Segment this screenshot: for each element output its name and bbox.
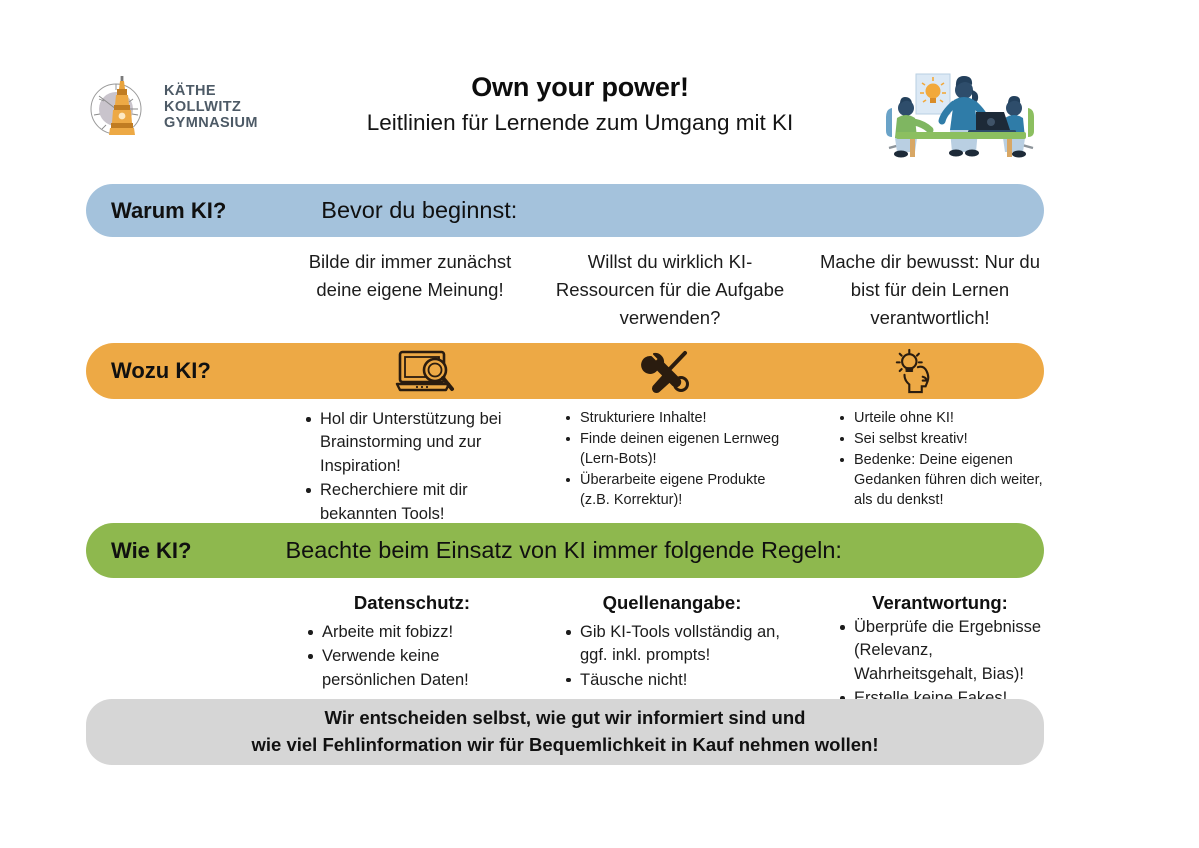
list-item: Arbeite mit fobizz!: [308, 621, 536, 644]
wozu-ki-column-3: Urteile ohne KI! Sei selbst kreativ! Bed…: [796, 408, 1058, 527]
warum-ki-columns: Bilde dir immer zunächst deine eigene Me…: [280, 248, 1060, 331]
wie-ki-columns: Datenschutz: Arbeite mit fobizz! Verwend…: [288, 592, 1060, 712]
section-label-warum-ki: Warum KI?: [86, 198, 226, 224]
column-title-verantwortung: Verantwortung:: [820, 592, 1060, 614]
wie-ki-bullets-2: Gib KI-Tools vollständig an, ggf. inkl. …: [546, 621, 798, 692]
wie-ki-column-datenschutz: Datenschutz: Arbeite mit fobizz! Verwend…: [288, 592, 536, 712]
section-label-wozu-ki: Wozu KI?: [86, 358, 211, 384]
logo-line-2: KOLLWITZ: [164, 99, 258, 115]
logo-line-3: GYMNASIUM: [164, 115, 258, 131]
title-block: Own your power! Leitlinien für Lernende …: [300, 72, 860, 136]
lighthouse-compass-logo-icon: [86, 71, 158, 143]
column-title-quellenangabe: Quellenangabe:: [546, 592, 798, 614]
section-banner-warum-ki: Warum KI? Bevor du beginnst:: [86, 184, 1044, 237]
header: KÄTHE KOLLWITZ GYMNASIUM Own your power!…: [0, 52, 1199, 167]
wozu-ki-icon-row: [211, 348, 1044, 394]
list-item: Überarbeite eigene Produkte (z.B. Korrek…: [566, 470, 796, 510]
list-item: Gib KI-Tools vollständig an, ggf. inkl. …: [566, 621, 798, 668]
infographic-page: KÄTHE KOLLWITZ GYMNASIUM Own your power!…: [0, 0, 1199, 848]
list-item: Sei selbst kreativ!: [840, 429, 1058, 449]
page-title: Own your power!: [300, 72, 860, 103]
list-item: Strukturiere Inhalte!: [566, 408, 796, 428]
section-banner-wie-ki: Wie KI? Beachte beim Einsatz von KI imme…: [86, 523, 1044, 578]
wie-ki-bullets-3: Überprüfe die Ergebnisse (Relevanz, Wahr…: [820, 616, 1060, 711]
list-item: Urteile ohne KI!: [840, 408, 1058, 428]
list-item: Überprüfe die Ergebnisse (Relevanz, Wahr…: [840, 616, 1060, 686]
wie-ki-column-verantwortung: Verantwortung: Überprüfe die Ergebnisse …: [798, 592, 1060, 712]
laptop-magnifier-icon: [381, 348, 473, 394]
wie-ki-column-quellenangabe: Quellenangabe: Gib KI-Tools vollständig …: [536, 592, 798, 712]
warum-ki-column-2: Willst du wirklich KI-Ressourcen für die…: [540, 248, 800, 331]
section-heading-wie-ki: Beachte beim Einsatz von KI immer folgen…: [285, 537, 841, 564]
page-subtitle: Leitlinien für Lernende zum Umgang mit K…: [300, 110, 860, 136]
head-lightbulb-icon: [870, 348, 962, 394]
list-item: Hol dir Unterstützung bei Brainstorming …: [306, 408, 534, 478]
list-item: Recherchiere mit dir bekannten Tools!: [306, 479, 534, 526]
logo-line-1: KÄTHE: [164, 83, 258, 99]
warum-ki-column-1: Bilde dir immer zunächst deine eigene Me…: [280, 248, 540, 331]
school-logo-wordmark: KÄTHE KOLLWITZ GYMNASIUM: [164, 83, 258, 132]
list-item: Verwende keine persönlichen Daten!: [308, 645, 536, 692]
list-item: Täusche nicht!: [566, 669, 798, 692]
column-title-datenschutz: Datenschutz:: [288, 592, 536, 614]
wozu-ki-bullets-2: Strukturiere Inhalte! Finde deinen eigen…: [546, 408, 796, 510]
wrench-screwdriver-icon: [623, 348, 715, 394]
footer-banner: Wir entscheiden selbst, wie gut wir info…: [86, 699, 1044, 765]
wozu-ki-bullets-1: Hol dir Unterstützung bei Brainstorming …: [286, 408, 534, 526]
section-banner-wozu-ki: Wozu KI?: [86, 343, 1044, 399]
school-logo: KÄTHE KOLLWITZ GYMNASIUM: [86, 68, 266, 146]
wozu-ki-column-1: Hol dir Unterstützung bei Brainstorming …: [286, 408, 534, 527]
list-item: Finde deinen eigenen Lernweg (Lern-Bots)…: [566, 429, 796, 469]
people-at-table-illustration-icon: [876, 60, 1046, 160]
wozu-ki-columns: Hol dir Unterstützung bei Brainstorming …: [286, 408, 1058, 527]
section-heading-warum-ki: Bevor du beginnst:: [321, 197, 517, 224]
warum-ki-column-3: Mache dir bewusst: Nur du bist für dein …: [800, 248, 1060, 331]
wozu-ki-column-2: Strukturiere Inhalte! Finde deinen eigen…: [534, 408, 796, 527]
footer-line-1: Wir entscheiden selbst, wie gut wir info…: [325, 705, 806, 732]
list-item: Bedenke: Deine eigenen Gedanken führen d…: [840, 450, 1058, 510]
section-label-wie-ki: Wie KI?: [86, 538, 191, 564]
footer-line-2: wie viel Fehlinformation wir für Bequeml…: [251, 732, 878, 759]
wie-ki-bullets-1: Arbeite mit fobizz! Verwende keine persö…: [288, 621, 536, 692]
wozu-ki-bullets-3: Urteile ohne KI! Sei selbst kreativ! Bed…: [820, 408, 1058, 510]
